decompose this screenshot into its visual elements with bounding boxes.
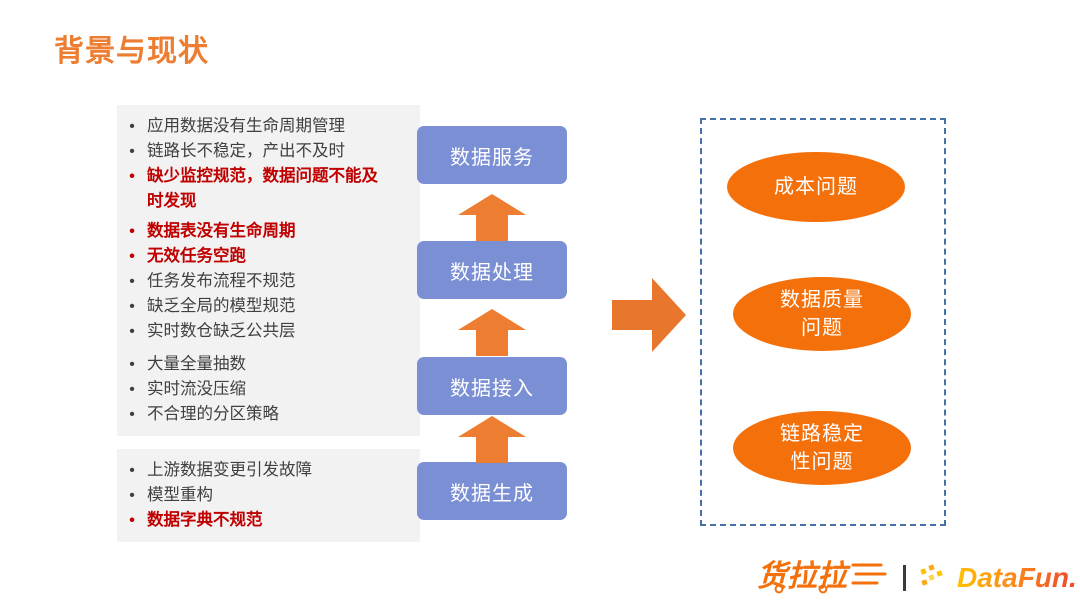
- bullet-dot-icon: •: [117, 294, 147, 319]
- bullet-text: 实时数仓缺乏公共层: [147, 319, 414, 344]
- bullet-text: 缺少监控规范，数据问题不能及 时发现: [147, 164, 414, 214]
- bullet-item: • 任务发布流程不规范: [117, 269, 414, 294]
- bullet-dot-icon: •: [117, 377, 147, 402]
- bullet-dot-icon: •: [117, 269, 147, 294]
- bullet-item: • 实时数仓缺乏公共层: [117, 319, 414, 344]
- bullet-item-highlighted: • 数据字典不规范: [117, 508, 414, 533]
- bullet-text: 无效任务空跑: [147, 244, 414, 269]
- up-arrow-icon: [458, 194, 526, 241]
- bullet-dot-icon: •: [117, 164, 147, 189]
- bullet-text: 不合理的分区策略: [147, 402, 414, 427]
- bullet-dot-icon: •: [117, 114, 147, 139]
- problem-ellipse-data-quality[interactable]: 数据质量 问题: [733, 277, 911, 351]
- svg-text:DataFun.: DataFun.: [957, 562, 1077, 593]
- right-arrow-icon: [612, 278, 686, 352]
- bullet-text: 数据字典不规范: [147, 508, 414, 533]
- svg-text:货拉拉: 货拉拉: [757, 559, 851, 593]
- logo-divider: [903, 565, 906, 591]
- bullet-item: • 上游数据变更引发故障: [117, 458, 414, 483]
- bullet-panel-processing: • 数据表没有生命周期 • 无效任务空跑 • 任务发布流程不规范 • 缺乏全局的…: [117, 210, 420, 353]
- huolala-logo: 货拉拉: [757, 556, 889, 601]
- up-arrow-icon: [458, 416, 526, 463]
- bullet-item-highlighted: • 缺少监控规范，数据问题不能及 时发现: [117, 164, 414, 214]
- bullet-dot-icon: •: [117, 319, 147, 344]
- stage-box-data-generation[interactable]: 数据生成: [417, 462, 567, 520]
- bullet-text: 大量全量抽数: [147, 352, 414, 377]
- bullet-panel-generation: • 上游数据变更引发故障 • 模型重构 • 数据字典不规范: [117, 449, 420, 542]
- stage-box-data-service[interactable]: 数据服务: [417, 126, 567, 184]
- bullet-item: • 模型重构: [117, 483, 414, 508]
- bullet-text: 数据表没有生命周期: [147, 219, 414, 244]
- bullet-item: • 链路长不稳定，产出不及时: [117, 139, 414, 164]
- bullet-item: • 应用数据没有生命周期管理: [117, 114, 414, 139]
- bullet-dot-icon: •: [117, 483, 147, 508]
- bullet-item: • 缺乏全局的模型规范: [117, 294, 414, 319]
- bullet-item-highlighted: • 无效任务空跑: [117, 244, 414, 269]
- footer-logos: 货拉拉: [757, 557, 1080, 599]
- problem-ellipse-link-stability[interactable]: 链路稳定 性问题: [733, 411, 911, 485]
- bullet-text: 任务发布流程不规范: [147, 269, 414, 294]
- bullet-text: 实时流没压缩: [147, 377, 414, 402]
- problem-ellipse-cost[interactable]: 成本问题: [727, 152, 905, 222]
- bullet-item-highlighted: • 数据表没有生命周期: [117, 219, 414, 244]
- bullet-text: 链路长不稳定，产出不及时: [147, 139, 414, 164]
- bullet-dot-icon: •: [117, 352, 147, 377]
- datafun-logo: DataFun.: [920, 561, 1080, 595]
- bullet-dot-icon: •: [117, 244, 147, 269]
- bullet-dot-icon: •: [117, 458, 147, 483]
- bullet-text: 上游数据变更引发故障: [147, 458, 414, 483]
- bullet-dot-icon: •: [117, 402, 147, 427]
- bullet-dot-icon: •: [117, 219, 147, 244]
- bullet-item: • 实时流没压缩: [117, 377, 414, 402]
- bullet-panel-application: • 应用数据没有生命周期管理 • 链路长不稳定，产出不及时 • 缺少监控规范，数…: [117, 105, 420, 223]
- bullet-item: • 大量全量抽数: [117, 352, 414, 377]
- bullet-panel-ingestion: • 大量全量抽数 • 实时流没压缩 • 不合理的分区策略: [117, 343, 420, 436]
- page-title: 背景与现状: [54, 26, 209, 70]
- bullet-text: 缺乏全局的模型规范: [147, 294, 414, 319]
- stage-box-data-processing[interactable]: 数据处理: [417, 241, 567, 299]
- stage-box-data-ingestion[interactable]: 数据接入: [417, 357, 567, 415]
- bullet-text: 模型重构: [147, 483, 414, 508]
- bullet-dot-icon: •: [117, 508, 147, 533]
- bullet-text: 应用数据没有生命周期管理: [147, 114, 414, 139]
- bullet-dot-icon: •: [117, 139, 147, 164]
- slide-canvas: 背景与现状 • 应用数据没有生命周期管理 • 链路长不稳定，产出不及时 • 缺少…: [0, 0, 1080, 608]
- bullet-item: • 不合理的分区策略: [117, 402, 414, 427]
- up-arrow-icon: [458, 309, 526, 356]
- datafun-dots-icon: [920, 563, 954, 593]
